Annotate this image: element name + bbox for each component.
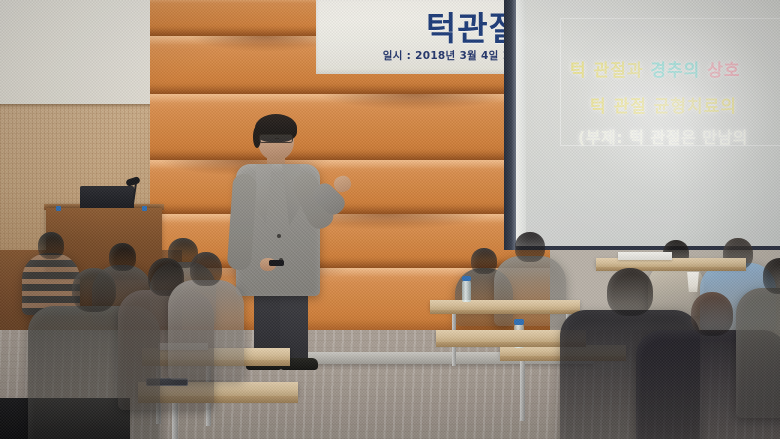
water-bottle: [462, 280, 471, 302]
laptop-on-podium: [80, 186, 134, 208]
paper-handout: [618, 252, 672, 260]
audience-torso: [494, 256, 566, 326]
audience-head: [691, 292, 733, 336]
slide-seg-1a: 턱 관절과: [570, 61, 650, 81]
slide-seg-2a: 턱 관절 균형치료의: [590, 97, 737, 117]
audience-head: [763, 258, 780, 294]
bottle-cap: [514, 319, 524, 325]
slide-line-2: 턱 관절 균형치료의: [590, 92, 737, 117]
audience-torso: [736, 288, 780, 418]
lecture-hall-photo: 턱관절 일시 : 2018년 3월 4일 13· 턱 관절과 경추의 상호 턱 …: [0, 0, 780, 439]
slide-seg-1c: 상호: [707, 61, 740, 81]
audience-head: [72, 268, 116, 312]
speaker-coat-button: [277, 234, 281, 238]
banner-title: 턱관절: [426, 2, 516, 50]
presenter-remote: [269, 260, 284, 266]
slide-line-3: (부제: 턱 관절은 만남의: [578, 124, 748, 148]
audience-member: [168, 252, 244, 386]
screen-bright-strip: [516, 0, 526, 246]
wall-slat: [150, 160, 550, 218]
audience-member: [736, 258, 780, 424]
audience-torso: [168, 280, 244, 380]
glasses-icon: [259, 134, 293, 143]
banner-date: 일시 : 2018년 3월 4일 13·: [383, 48, 516, 63]
desk-leg: [520, 361, 525, 421]
audience-head: [190, 252, 222, 286]
slide-seg-1b: 경추의: [650, 61, 707, 81]
audience-head: [38, 232, 64, 259]
slide-seg-3a: (부제: 턱 관절은 만남의: [578, 128, 748, 147]
event-banner: 턱관절 일시 : 2018년 3월 4일 13·: [316, 0, 516, 74]
wall-slat: [150, 94, 550, 164]
slide-line-1: 턱 관절과 경추의 상호: [570, 56, 741, 81]
screen-left-frame-edge: [504, 0, 516, 250]
projection-screen: 턱 관절과 경추의 상호 턱 관절 균형치료의 (부제: 턱 관절은 만남의: [516, 0, 780, 246]
bottle-cap: [462, 276, 471, 281]
audience-head: [515, 232, 545, 262]
audience-member: [494, 232, 566, 332]
desk: [430, 300, 580, 310]
